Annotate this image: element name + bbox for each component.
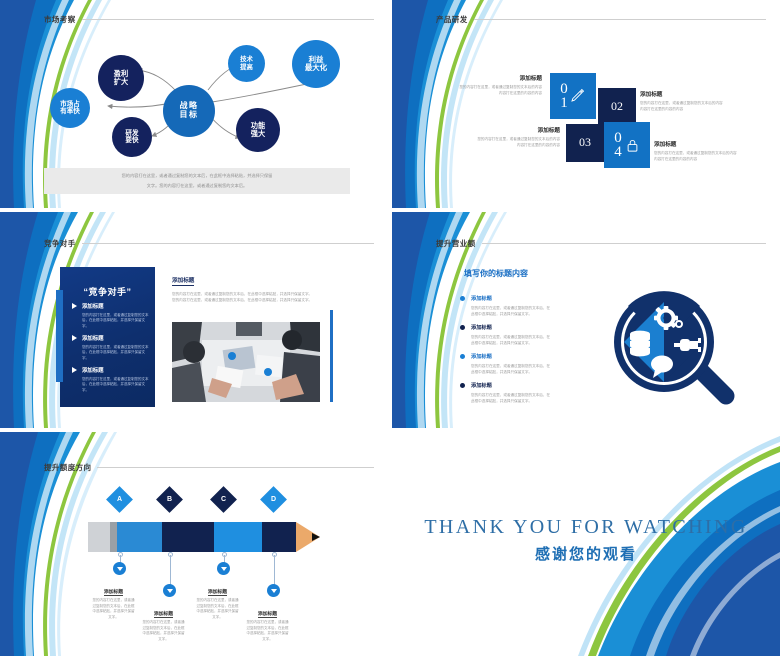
caption-line1: 您的内容打在这里，或者通 [92,598,135,604]
box-number-01: 01 01 [560,82,568,111]
step-diamond-d[interactable]: D [260,486,287,513]
slide-title: 竞争对手 [44,238,76,249]
mindmap-node-strategic-goal[interactable]: 战略目标 [163,85,215,137]
item-body: 您的内容打在这里，或者通过复制您的文本后，在此框中选择粘贴，并选择只保留文字。 [82,345,150,363]
caption-body-line2: 内容打在这里的内容的内容 [654,157,766,163]
slide-header-competitors: 竞争对手 [44,238,374,249]
bullet-item-4[interactable]: 添加标题 您的内容打在这里，或者通过复制您的文本后，在 此框中选择粘贴，并选择只… [460,382,586,404]
arrow-icon [72,367,77,373]
content-heading: 填写你的标题内容 [464,268,528,279]
header-rule [82,243,374,244]
node-label-line2: 强大 [251,129,265,138]
caption-line4: 文字。 [92,615,135,621]
caption-line3: 中选择粘贴，并选择只保留 [92,609,135,615]
header-rule [82,19,374,20]
bullet-heading: 添加标题 [471,295,550,302]
caption-02: 添加标题 您的内容打在这里，或者通过复制您的文本后的内容 内容打在这里的内容的内… [640,90,750,113]
slide-header-market-research: 市场考察 [44,14,374,25]
caption-heading: 添加标题 [640,90,750,98]
slide-header-increase-revenue: 提升营业额 [436,238,766,249]
mindmap-node-profit-expand[interactable]: 盈利扩大 [98,55,144,101]
bullet-item-1[interactable]: 添加标题 您的内容打在这里，或者通过复制您的文本后，在 此框中选择粘贴，并选择只… [460,295,586,317]
pin-c[interactable] [217,562,230,575]
caption-heading: 添加标题 [654,140,766,148]
step-diamond-a[interactable]: A [106,486,133,513]
bullet-dot-icon [460,325,465,330]
step-caption-b: 添加标题 您的内容打在这里，或者通 过复制您的文本后，在此框 中选择粘贴，并选择… [142,602,185,642]
slide-title: 提升营业额 [436,238,476,249]
bullet-dot-icon [460,383,465,388]
node-label-line1: 战略 [180,101,199,110]
card-accent-bar [56,290,63,382]
pin-d[interactable] [267,584,280,597]
slide-increase-revenue[interactable]: 提升营业额 填写你的标题内容 添加标题 您的内容打在这里，或者通过复制您的文本后… [392,212,780,428]
mindmap-node-market-share[interactable]: 市场占有率快 [50,88,90,128]
bullet-body-line2: 此框中选择粘贴，并选择只保留文字。 [471,369,550,375]
box-number-02: 02 [611,101,623,112]
step-caption-a: 添加标题 您的内容打在这里，或者通 过复制您的文本后，在此框 中选择粘贴，并选择… [92,580,135,620]
thank-you-block: THANK YOU FOR WATCHING 感谢您的观看 [392,516,780,564]
step-caption-d: 添加标题 您的内容打在这里，或者通 过复制您的文本后，在此框 中选择粘贴，并选择… [246,602,289,642]
bullet-heading: 添加标题 [471,353,550,360]
right-heading: 添加标题 [172,276,194,286]
caption-heading: 添加标题 [456,126,560,134]
pencil-icon [570,88,586,104]
pin-arrow-icon [117,567,123,571]
node-label-line1: 研发 [125,130,138,137]
magnifier-graphic-icon [608,286,738,416]
bullet-body-line1: 您的内容打在这里，或者通过复制您的文本后，在 [471,392,550,398]
caption-heading: 添加标题 [154,610,173,618]
caption-body-line2: 内容打在这里的内容的内容 [442,91,542,97]
pin-arrow-icon [271,589,277,593]
bullet-heading: 添加标题 [471,382,550,389]
photo-content-icon [172,322,320,402]
slide-title: 市场考察 [44,14,76,25]
node-label-line1: 市场占 [60,101,80,108]
caption-line4: 文字。 [142,637,185,643]
node-label-line2: 提高 [240,64,253,71]
item-heading: 添加标题 [82,302,150,310]
caption-body-line2: 内容打在这里的内容的内容 [456,143,560,149]
item-heading: 添加标题 [82,334,150,342]
caption-03: 添加标题 您的内容打在这里，或者通过复制您的文本后的内容 内容打在这里的内容的内… [456,126,560,149]
thank-you-english: THANK YOU FOR WATCHING [392,516,780,539]
caption-line-2: 文字。您的内容打在这里，或者通过复制您的文本后。 [147,183,248,189]
node-label-line2: 有率快 [60,108,80,115]
card-item-1[interactable]: 添加标题 您的内容打在这里，或者通过复制您的文本后，在此框中选择粘贴，并选择只保… [72,302,150,330]
database-icon [630,331,650,357]
caption-heading: 添加标题 [104,588,123,596]
caption-body-line2: 内容打在这里的内容的内容 [640,107,750,113]
step-caption-c: 添加标题 您的内容打在这里，或者通 过复制您的文本后，在此框 中选择粘贴，并选择… [196,580,239,620]
caption-box: 您的内容打在这里，或者通过复制您的文本后，在此框中选择粘贴，并选择只保留 文字。… [44,168,350,194]
bullet-dot-icon [460,354,465,359]
number-box-01[interactable]: 01 01 [550,73,596,119]
card-heading: “竞争对手” [60,285,155,298]
right-accent-bar [330,310,333,402]
caption-line4: 文字。 [246,637,289,643]
slide-header-product-rnd: 产品研发 [436,14,766,25]
arrow-icon [72,303,77,309]
mindmap-node-rnd-speed[interactable]: 研发要快 [112,117,152,157]
node-label-line2: 要快 [125,137,138,144]
pencil-shape-icon [88,522,320,552]
team-meeting-photo [172,322,320,402]
thank-you-chinese: 感谢您的观看 [392,543,780,564]
card-item-3[interactable]: 添加标题 您的内容打在这里，或者通过复制您的文本后，在此框中选择粘贴，并选择只保… [72,366,150,394]
caption-line1: 您的内容打在这里，或者通 [246,620,289,626]
bullet-dot-icon [460,296,465,301]
caption-line3: 中选择粘贴，并选择只保留 [246,631,289,637]
pin-arrow-icon [221,567,227,571]
caption-line-1: 您的内容打在这里，或者通过复制您的文本后，在此框中选择粘贴，并选择只保留 [122,173,273,179]
wave-decoration-icon [392,0,542,208]
number-box-02[interactable]: 02 [598,88,636,126]
bullet-body-line2: 此框中选择粘贴，并选择只保留文字。 [471,398,550,404]
slide-growth-direction[interactable]: 提升额度方向 A B C D [0,432,388,656]
mindmap-node-max-benefit[interactable]: 利益最大化 [292,40,340,88]
card-item-2[interactable]: 添加标题 您的内容打在这里，或者通过复制您的文本后，在此框中选择粘贴，并选择只保… [72,334,150,362]
bullet-heading: 添加标题 [471,324,550,331]
box-number-04: 04 04 [614,131,622,160]
node-label-line2: 扩大 [114,77,128,86]
number-box-04[interactable]: 04 04 [604,122,650,168]
pin-b[interactable] [163,584,176,597]
bullet-item-2[interactable]: 添加标题 您的内容打在这里，或者通过复制您的文本后，在 此框中选择粘贴，并选择只… [460,324,586,346]
node-label-line1: 技术 [240,56,253,63]
header-rule [97,467,374,468]
slide-deck-overview-page: 市场考察 市场占有率快 盈利扩大 研发要快 战略目标 [0,0,780,656]
mindmap-node-tech-improve[interactable]: 技术提高 [228,45,265,82]
slide-product-rnd[interactable]: 产品研发 01 01 添加标题 您的内容打在这里，或者通过复制您的文本后的内容 … [392,0,780,208]
mindmap-node-strong-function[interactable]: 功能强大 [236,108,280,152]
number-box-03[interactable]: 03 [566,124,604,162]
bullet-body-line2: 此框中选择粘贴，并选择只保留文字。 [471,340,550,346]
step-letter: C [221,496,226,503]
caption-01: 添加标题 您的内容打在这里，或者通过复制您的文本后的内容 内容打在这里的内容的内… [442,74,542,97]
pin-a[interactable] [113,562,126,575]
step-diamond-b[interactable]: B [156,486,183,513]
header-rule [474,19,766,20]
node-label-line2: 最大化 [305,63,327,72]
slide-competitors[interactable]: 竞争对手 “竞争对手” 添加标题 您的内容打在这里，或者通过复制您的文本后，在此… [0,212,388,428]
lock-icon [625,138,640,153]
caption-line3: 中选择粘贴，并选择只保留 [142,631,185,637]
step-diamond-c[interactable]: C [210,486,237,513]
pin-arrow-icon [167,589,173,593]
bullet-body-line2: 此框中选择粘贴，并选择只保留文字。 [471,311,550,317]
header-rule [482,243,767,244]
caption-line3: 中选择粘贴，并选择只保留 [196,609,239,615]
bullet-body-line1: 您的内容打在这里，或者通过复制您的文本后，在 [471,305,550,311]
step-letter: B [167,496,172,503]
arrow-icon [72,335,77,341]
item-body: 您的内容打在这里，或者通过复制您的文本后，在此框中选择粘贴，并选择只保留文字。 [82,313,150,331]
item-body: 您的内容打在这里，或者通过复制您的文本后，在此框中选择粘贴，并选择只保留文字。 [82,377,150,395]
bullet-body-line1: 您的内容打在这里，或者通过复制您的文本后，在 [471,363,550,369]
caption-line4: 文字。 [196,615,239,621]
caption-heading: 添加标题 [258,610,277,618]
caption-line1: 您的内容打在这里，或者通 [196,598,239,604]
step-letter: A [117,496,122,503]
right-text-block: 添加标题 您的内容打在这里，或者通过复制您的文本后，在此框中选择粘贴，并选择只保… [172,269,332,304]
node-label-line2: 目标 [180,110,199,119]
caption-04: 添加标题 您的内容打在这里，或者通过复制您的文本后的内容 内容打在这里的内容的内… [654,140,766,163]
slide-header-growth-direction: 提升额度方向 [44,462,374,473]
step-letter: D [271,496,276,503]
slide-market-research[interactable]: 市场考察 市场占有率快 盈利扩大 研发要快 战略目标 [0,0,388,208]
slide-title: 提升额度方向 [44,462,91,473]
caption-line1: 您的内容打在这里，或者通 [142,620,185,626]
bullet-body-line1: 您的内容打在这里，或者通过复制您的文本后，在 [471,334,550,340]
item-heading: 添加标题 [82,366,150,374]
slide-title: 产品研发 [436,14,468,25]
box-number-03: 03 [579,137,591,148]
bullet-item-3[interactable]: 添加标题 您的内容打在这里，或者通过复制您的文本后，在 此框中选择粘贴，并选择只… [460,353,586,375]
caption-heading: 添加标题 [442,74,542,82]
right-body-line2: 您的内容打在这里，或者通过复制您的文本后，在此框中选择粘贴，并选择只保留文字。 [172,297,332,303]
caption-heading: 添加标题 [208,588,227,596]
slide-thank-you[interactable]: THANK YOU FOR WATCHING 感谢您的观看 [392,432,780,656]
